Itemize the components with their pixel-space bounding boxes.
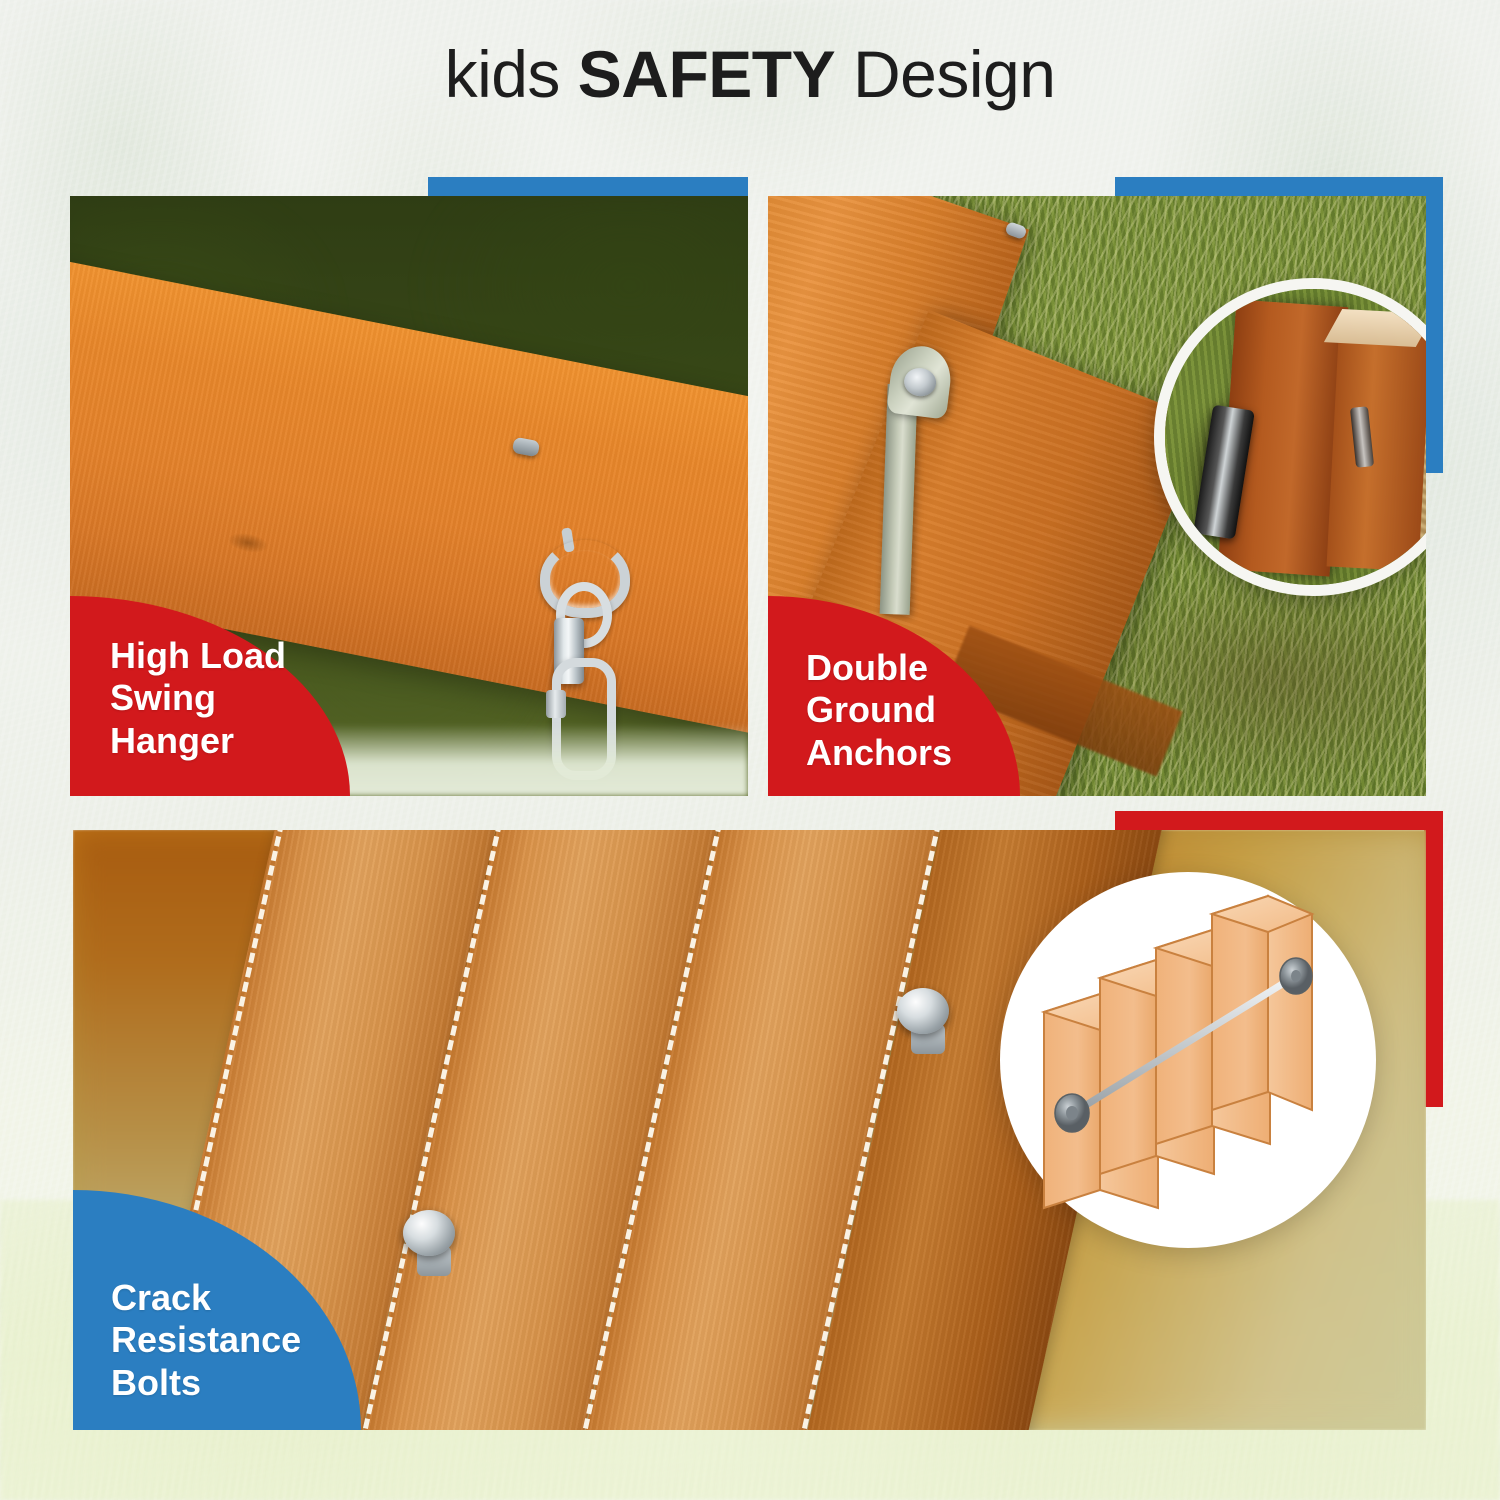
title-part-safety: SAFETY <box>578 37 835 111</box>
badge-label: Crack Resistance Bolts <box>111 1277 301 1404</box>
inset-post-b-top <box>1324 309 1426 347</box>
wood-knot <box>227 530 270 555</box>
ground-anchor-inset-photo <box>1154 278 1426 596</box>
inset-post-b <box>1327 317 1426 571</box>
bolt-hole-right <box>1291 970 1301 982</box>
bolt-head-icon-1 <box>403 1210 455 1256</box>
title-part-design: Design <box>835 37 1055 111</box>
badge-crack-resistance-bolts: Crack Resistance Bolts <box>73 1190 361 1430</box>
badge-double-ground-anchors: Double Ground Anchors <box>768 596 1020 796</box>
bolt-hole-left <box>1066 1106 1078 1120</box>
title-part-kids: kids <box>445 37 578 111</box>
anchor-plate <box>880 384 918 615</box>
wood-beam-4 <box>1212 896 1312 1110</box>
infographic-canvas: kids SAFETY Design High Load Swing Hange… <box>0 0 1500 1500</box>
quick-link-sleeve <box>546 690 566 718</box>
panel-1-accent-bar-horizontal <box>428 177 748 196</box>
through-bolt-icon <box>1000 872 1376 1248</box>
bolt-head-icon-2 <box>897 988 949 1034</box>
panel-3-accent-bar-horizontal <box>1115 811 1443 830</box>
through-bolt-illustration <box>1000 872 1376 1248</box>
badge-high-load-swing-hanger: High Load Swing Hanger <box>70 596 350 796</box>
badge-label: Double Ground Anchors <box>806 647 952 774</box>
panel-2-accent-bar-vertical <box>1424 177 1443 473</box>
panel-2-accent-bar-horizontal <box>1115 177 1443 196</box>
panel-3-accent-bar-vertical <box>1424 811 1443 1107</box>
page-title: kids SAFETY Design <box>0 36 1500 112</box>
badge-label: High Load Swing Hanger <box>110 635 350 762</box>
